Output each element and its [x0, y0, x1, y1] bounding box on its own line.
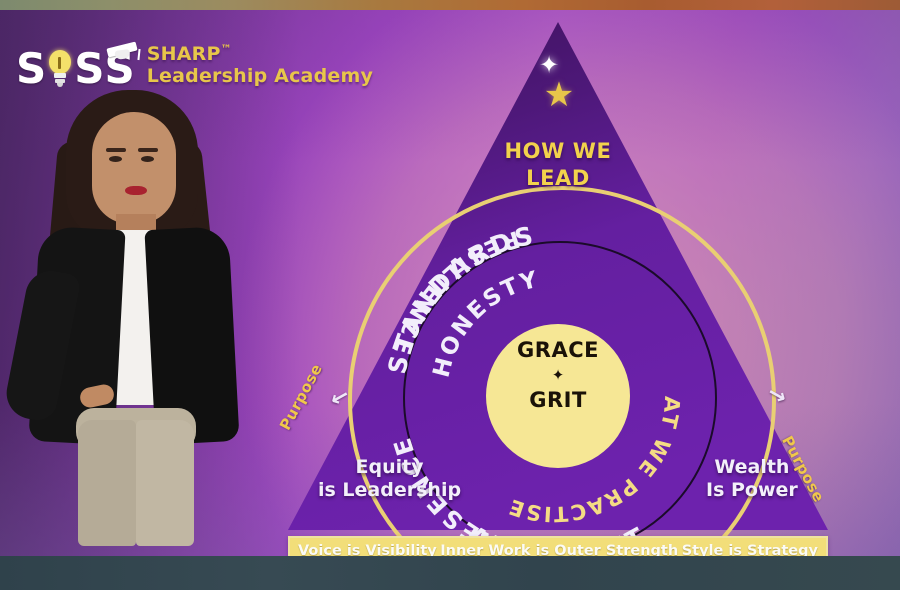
corner-left-line2: is Leadership — [318, 479, 461, 502]
core-label-grit: GRIT — [486, 388, 630, 412]
slide-canvas: S S S SHARP™ Leadership Academy — [0, 0, 900, 590]
photo-top-edge-strip — [0, 0, 900, 10]
corner-label-wealth: Wealth Is Power — [706, 456, 798, 502]
apex-label-line1: HOW WE — [458, 138, 658, 165]
photo-bottom-edge-strip — [0, 556, 900, 590]
corner-label-equity: Equity is Leadership — [318, 456, 461, 502]
corner-right-line1: Wealth — [706, 456, 798, 479]
star-icon: ★ — [542, 78, 576, 112]
ring-label-what-we-practise: WHAT WE PRACTISE — [0, 0, 684, 526]
core-separator-icon: ✦ — [486, 366, 630, 384]
core-label-grace: GRACE — [486, 338, 630, 362]
apex-label: HOW WE LEAD — [458, 138, 658, 192]
corner-right-line2: Is Power — [706, 479, 798, 502]
apex-label-line2: LEAD — [458, 165, 658, 192]
corner-left-line1: Equity — [318, 456, 461, 479]
